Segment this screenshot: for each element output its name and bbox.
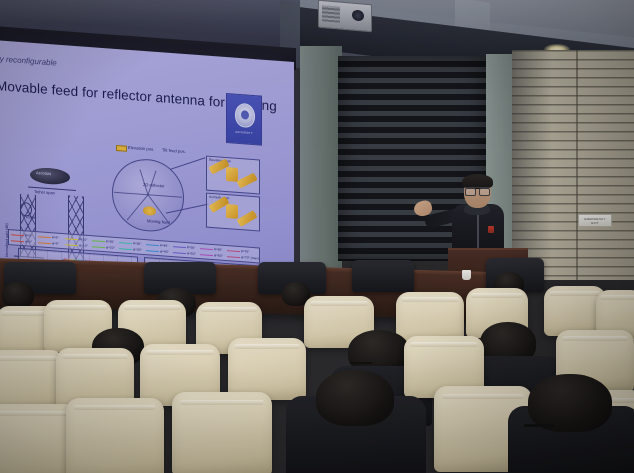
slide-logo-caption: UNIVERSITY (229, 130, 259, 135)
legend-chip (116, 145, 127, 152)
legend-swatch (146, 244, 159, 246)
slide-subtitle: ly reconfigurable (0, 54, 57, 67)
aerostat-label: Aerostat (36, 170, 51, 176)
legend-swatch (200, 248, 213, 250)
legend-item-label: φ=20° (106, 245, 115, 250)
legend-item-label: θ=50° (187, 245, 195, 250)
auditorium-seat (172, 392, 272, 473)
wall-sign: EMERGENCY EXIT (578, 214, 612, 227)
wall-column (300, 46, 342, 271)
legend-item-label: φ=30° (133, 247, 142, 252)
legend-swatch (119, 248, 132, 250)
projector-vent (322, 5, 340, 23)
paper-cup (462, 270, 471, 280)
audience-head (316, 370, 394, 426)
auditorium-seat (66, 398, 164, 473)
legend-item-label: θ=70° (241, 249, 249, 254)
legend-item-label: θ=40° (160, 243, 168, 248)
span-label: Tether span (34, 189, 55, 196)
legend-item-label: φ=70° (max) (241, 255, 259, 260)
legend-swatch (173, 252, 186, 254)
auditorium-seat (0, 350, 64, 412)
feed-label: Moving feed (147, 218, 170, 225)
jacket-badge (488, 226, 494, 233)
auditorium-seat (228, 338, 306, 400)
legend-swatch (92, 240, 105, 242)
legend-swatch (173, 246, 186, 248)
legend-item-label: φ=5° (52, 241, 59, 246)
satellite-inset-azimuth: Azimuth scan (206, 193, 260, 232)
movable-feed-icon (143, 206, 156, 216)
eyeglasses-icon (465, 187, 490, 194)
front-row-chair (352, 260, 414, 292)
legend-swatch (227, 250, 240, 252)
legend-item-label: θ=60° (214, 247, 222, 252)
legend-item-label: θ=0° (25, 233, 32, 237)
chart-y-axis-label: Normalized gain (dB) (5, 197, 9, 257)
legend-swatch (38, 236, 51, 238)
legend-swatch (11, 234, 24, 236)
legend-item-label: φ=40° (160, 249, 169, 254)
eyeglasses-icon (350, 362, 372, 364)
tower-diagram: Aerostat Tether span (0, 100, 104, 188)
legend-swatch (65, 238, 78, 240)
legend-swatch (38, 242, 51, 244)
legend-swatch (119, 242, 132, 244)
legend-swatch (200, 254, 213, 256)
legend-item-label: φ=10° (79, 243, 88, 248)
legend-label-tilt: Tilt feed pos. (162, 147, 186, 154)
legend-swatch (11, 240, 24, 242)
wall-seam (576, 50, 578, 280)
legend-item-label: φ=0° (25, 239, 32, 244)
legend-item-label: θ=10° (79, 237, 87, 242)
legend-item-label: θ=30° (133, 241, 141, 246)
lecture-hall-photo: EMERGENCY EXIT ly reconfigurable Movable… (0, 0, 634, 473)
legend-swatch (227, 256, 240, 258)
legend-swatch (92, 246, 105, 248)
projector-lens-icon (352, 9, 364, 21)
callout-line (170, 157, 206, 170)
crest-icon (235, 103, 255, 128)
eyeglasses-icon (524, 424, 554, 427)
legend-swatch (146, 250, 159, 252)
legend-item-label: θ=5° (52, 235, 59, 239)
rope-loop (20, 202, 32, 217)
legend-item-label: θ=20° (106, 239, 114, 244)
audience-head (2, 282, 34, 308)
legend-swatch (65, 244, 78, 246)
legend-label-elevation: Elevation pos. (128, 145, 154, 152)
legend-item-label: φ=50° (187, 251, 196, 256)
legend-item-label: φ=60° (214, 253, 223, 258)
slide-logo: UNIVERSITY (226, 93, 262, 146)
satellite-inset-elevation: Elevation scan (206, 156, 260, 195)
